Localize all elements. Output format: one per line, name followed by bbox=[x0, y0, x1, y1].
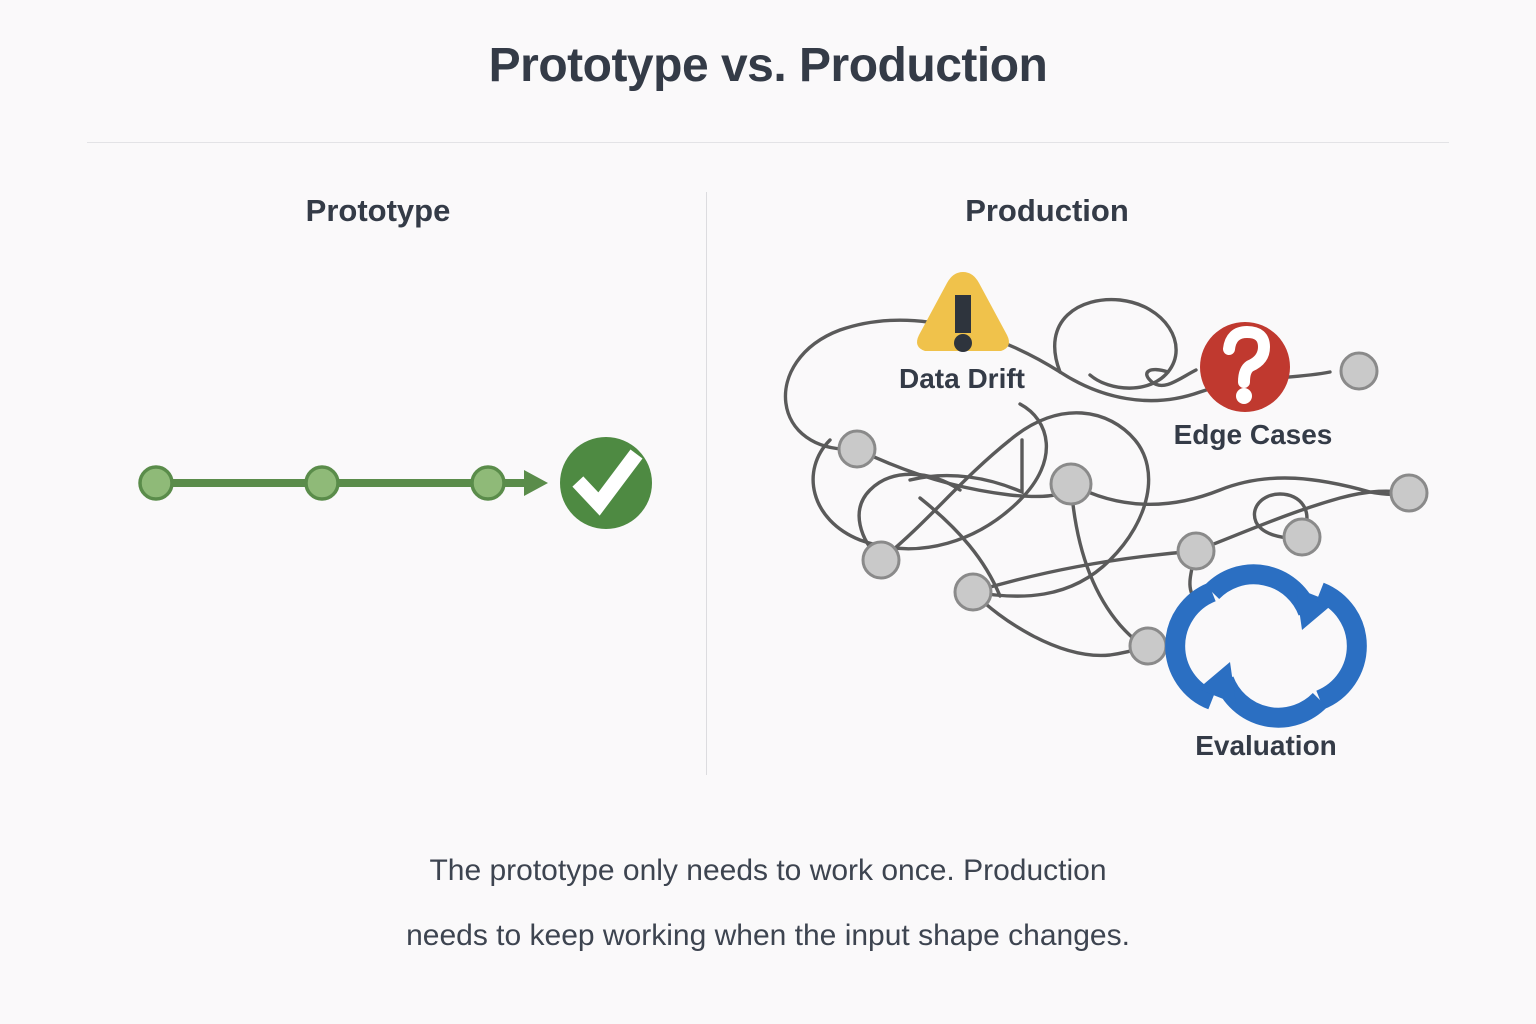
production-node bbox=[1391, 475, 1427, 511]
tangle-path bbox=[813, 404, 1046, 549]
caption-line-1: The prototype only needs to work once. P… bbox=[0, 838, 1536, 903]
tangle-loop bbox=[1055, 300, 1176, 389]
caption: The prototype only needs to work once. P… bbox=[0, 838, 1536, 968]
column-heading-production: Production bbox=[965, 193, 1129, 229]
production-node bbox=[1178, 533, 1214, 569]
production-node bbox=[1130, 628, 1166, 664]
production-node bbox=[1051, 464, 1091, 504]
production-node bbox=[863, 542, 899, 578]
production-node bbox=[1284, 519, 1320, 555]
production-node bbox=[839, 431, 875, 467]
badge-label-evaluation: Evaluation bbox=[1195, 730, 1337, 762]
production-node bbox=[1341, 353, 1377, 389]
tangle-path bbox=[859, 474, 960, 560]
production-node-group bbox=[839, 353, 1427, 664]
tangle-path bbox=[881, 413, 1149, 596]
prototype-node bbox=[306, 467, 338, 499]
prototype-path-group bbox=[85, 467, 548, 499]
tangle-kink bbox=[1254, 494, 1306, 538]
production-tangle-group bbox=[785, 300, 1440, 656]
tangle-path bbox=[973, 592, 1148, 655]
tangle-path bbox=[857, 449, 1071, 496]
prototype-node bbox=[472, 467, 504, 499]
refresh-cycle-icon bbox=[1175, 574, 1357, 717]
badge-label-data-drift: Data Drift bbox=[899, 363, 1025, 395]
tangle-path bbox=[1196, 491, 1409, 551]
tangle-path bbox=[1190, 551, 1196, 600]
tangle-path bbox=[920, 498, 1000, 596]
question-circle-icon bbox=[1200, 322, 1290, 412]
warning-triangle-icon bbox=[917, 272, 1009, 352]
prototype-arrowhead bbox=[524, 470, 548, 496]
tangle-path bbox=[1071, 484, 1148, 646]
tangle-path bbox=[973, 551, 1196, 592]
tangle-path bbox=[1071, 478, 1409, 504]
column-heading-prototype: Prototype bbox=[306, 193, 451, 229]
header-divider bbox=[87, 142, 1449, 143]
slide-canvas: Prototype vs. Production Prototype Produ… bbox=[0, 0, 1536, 1024]
column-divider bbox=[706, 192, 707, 775]
badge-label-edge-cases: Edge Cases bbox=[1174, 419, 1333, 451]
check-circle-icon bbox=[560, 437, 652, 529]
production-node bbox=[955, 574, 991, 610]
tangle-path bbox=[910, 440, 1022, 492]
prototype-node bbox=[140, 467, 172, 499]
tangle-curl bbox=[1147, 370, 1196, 386]
page-title: Prototype vs. Production bbox=[0, 38, 1536, 93]
caption-line-2: needs to keep working when the input sha… bbox=[0, 903, 1536, 968]
